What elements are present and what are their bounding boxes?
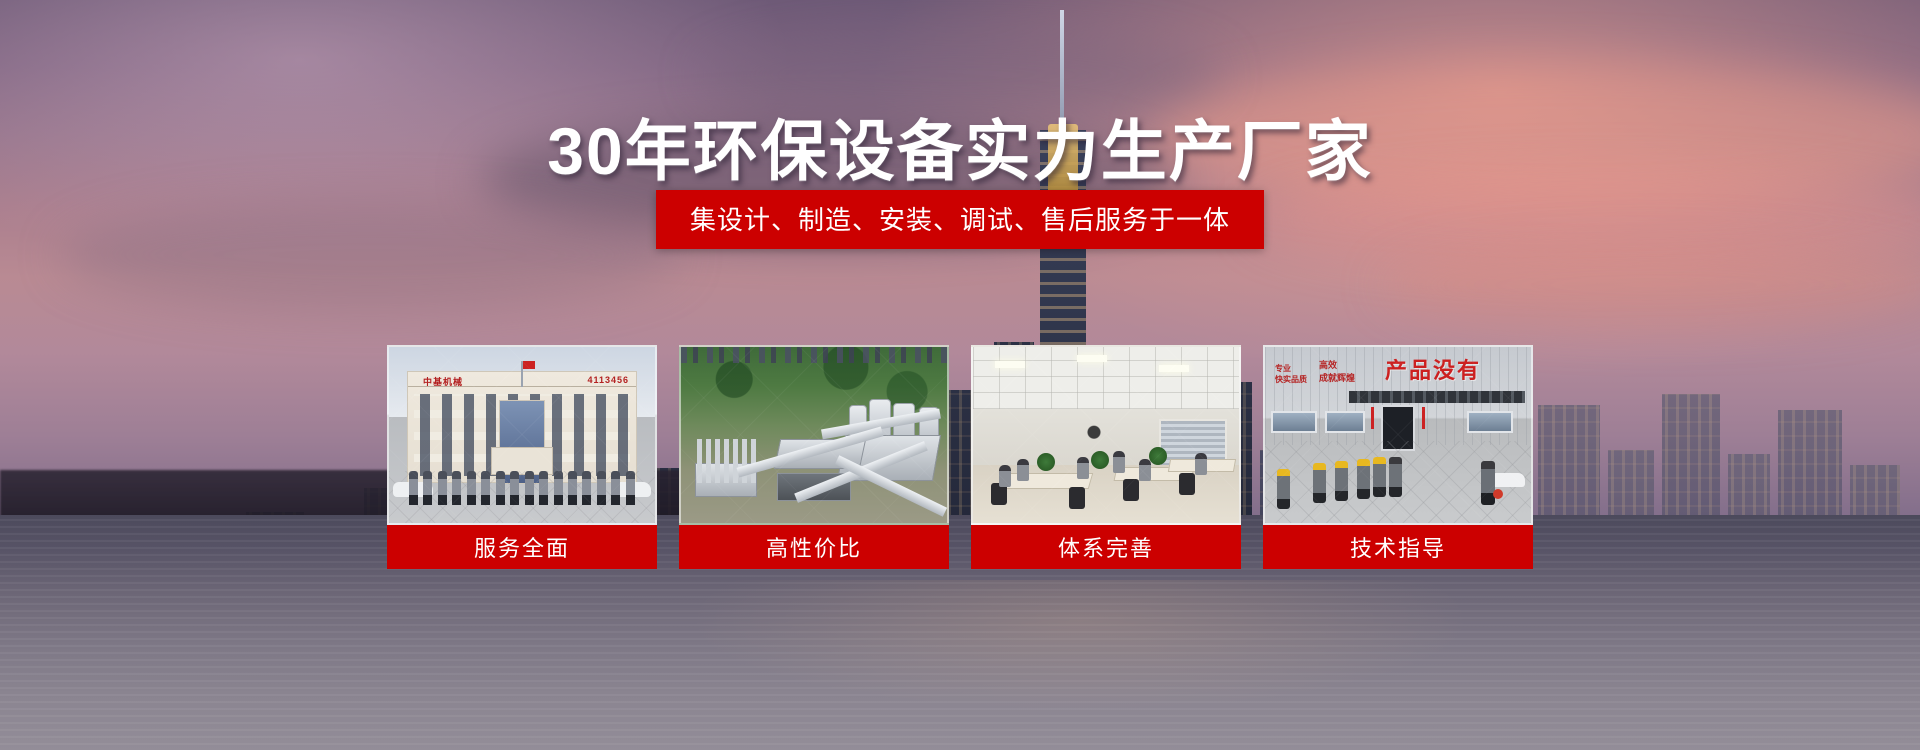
wall-decal: [1077, 421, 1111, 449]
wall-sign-text: 产品没有: [1385, 353, 1481, 385]
wall-slogan-left: 专业快实品质: [1275, 363, 1307, 385]
helmet-icon: [1493, 489, 1503, 499]
supervisor-figure: [1481, 461, 1495, 505]
feature-card-list: 中基机械 4113456 服务全面: [387, 345, 1533, 569]
card-caption: 技术指导: [1263, 525, 1533, 569]
wall-slogan-right: 高效成就辉煌: [1319, 359, 1355, 384]
feature-card[interactable]: 专业快实品质 高效成就辉煌 产品没有 技术指导: [1263, 345, 1533, 569]
feature-card[interactable]: 体系完善: [971, 345, 1241, 569]
feature-card[interactable]: 中基机械 4113456 服务全面: [387, 345, 657, 569]
flag-icon: [521, 361, 523, 387]
card-caption: 体系完善: [971, 525, 1241, 569]
page-title: 30年环保设备实力生产厂家: [0, 98, 1920, 194]
subtitle-container: 集设计、制造、安装、调试、售后服务于一体: [0, 190, 1920, 249]
card-photo-company-building[interactable]: 中基机械 4113456: [387, 345, 657, 525]
subtitle-badge: 集设计、制造、安装、调试、售后服务于一体: [656, 190, 1264, 249]
card-caption: 高性价比: [679, 525, 949, 569]
water-reflection: [0, 580, 1920, 750]
phone-number-text: 4113456: [587, 375, 629, 385]
card-photo-industrial-plant[interactable]: [679, 345, 949, 525]
hero-banner: 30年环保设备实力生产厂家 集设计、制造、安装、调试、售后服务于一体 中基机械 …: [0, 0, 1920, 750]
staff-row: [409, 471, 635, 505]
company-sign-text: 中基机械: [423, 375, 463, 388]
feature-card[interactable]: 高性价比: [679, 345, 949, 569]
card-photo-factory-workers[interactable]: 专业快实品质 高效成就辉煌 产品没有: [1263, 345, 1533, 525]
card-caption: 服务全面: [387, 525, 657, 569]
card-photo-office-interior[interactable]: [971, 345, 1241, 525]
